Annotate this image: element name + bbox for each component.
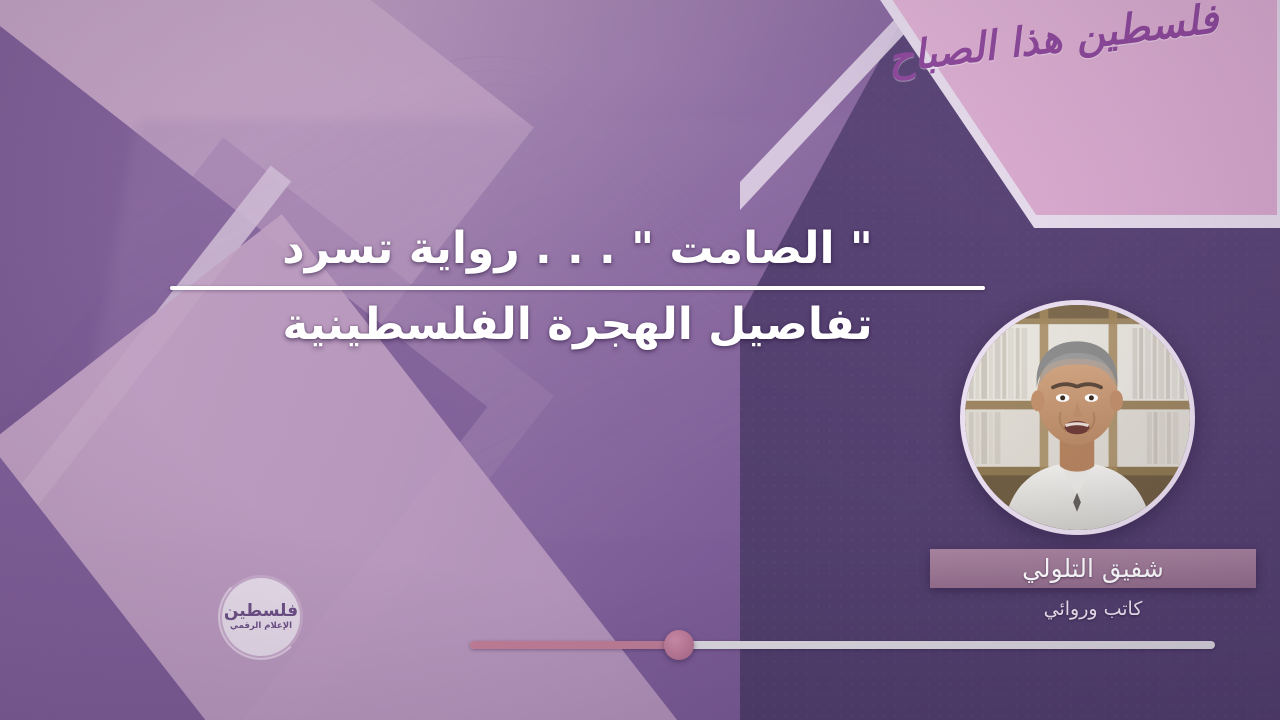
watermark-arc-decoration — [218, 574, 304, 660]
headline-line-1: " الصامت " . . . رواية تسرد — [170, 222, 985, 276]
guest-avatar — [960, 300, 1195, 535]
program-logo-chevron: فلسطين هذا الصباح — [818, 0, 1280, 228]
headline-block: " الصامت " . . . رواية تسرد تفاصيل الهجر… — [170, 222, 985, 351]
guest-role-text: كاتب وروائي — [930, 598, 1256, 620]
playback-progress-fill — [470, 641, 679, 649]
playback-progress-knob[interactable] — [664, 630, 694, 660]
headline-divider — [170, 286, 985, 290]
channel-watermark-logo: فلسطين الإعلام الرقمي — [222, 578, 300, 656]
guest-name-text: شفيق التلولي — [1022, 554, 1164, 583]
broadcast-lower-third-frame: فلسطين هذا الصباح " الصامت " . . . رواية… — [0, 0, 1280, 720]
guest-name-banner: شفيق التلولي — [930, 549, 1256, 588]
guest-photo — [965, 305, 1190, 530]
headline-line-2: تفاصيل الهجرة الفلسطينية — [170, 298, 985, 352]
playback-progress-bar[interactable] — [470, 641, 1215, 649]
